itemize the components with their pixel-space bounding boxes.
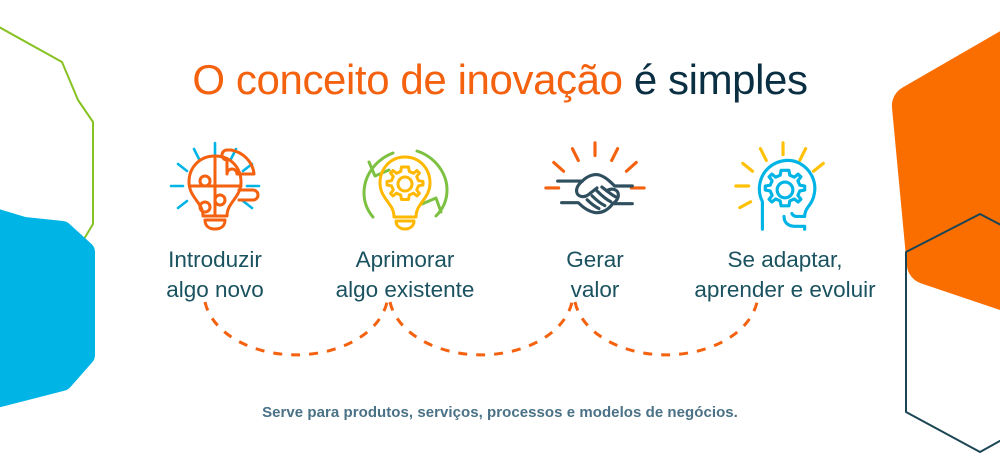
- steps-row: Introduzir algo novo: [120, 140, 880, 310]
- lightbulb-gear-cycle-icon: [351, 140, 459, 232]
- step-icon-wrap: [350, 140, 460, 232]
- step-icon-wrap: [160, 140, 270, 232]
- dashed-arc-connector: [575, 302, 757, 355]
- step-item: Se adaptar, aprender e evoluir: [690, 140, 880, 305]
- step-item: Aprimorar algo existente: [310, 140, 500, 305]
- dashed-arc-connector: [390, 302, 572, 355]
- title-rest: é simples: [623, 56, 808, 103]
- infographic-canvas: O conceito de inovação é simples: [0, 0, 1000, 459]
- dashed-arc-connectors: [0, 296, 1000, 376]
- puzzle-lightbulb-icon: [161, 140, 269, 232]
- step-item: Gerar valor: [500, 140, 690, 305]
- step-icon-wrap: [540, 140, 650, 232]
- page-title: O conceito de inovação é simples: [0, 56, 1000, 104]
- handshake-icon: [540, 140, 650, 232]
- dashed-arc-connector: [205, 302, 387, 355]
- head-gear-icon: [730, 140, 840, 232]
- step-icon-wrap: [730, 140, 840, 232]
- footer-caption: Serve para produtos, serviços, processos…: [0, 404, 1000, 421]
- step-item: Introduzir algo novo: [120, 140, 310, 305]
- title-highlight: O conceito de inovação: [192, 56, 622, 103]
